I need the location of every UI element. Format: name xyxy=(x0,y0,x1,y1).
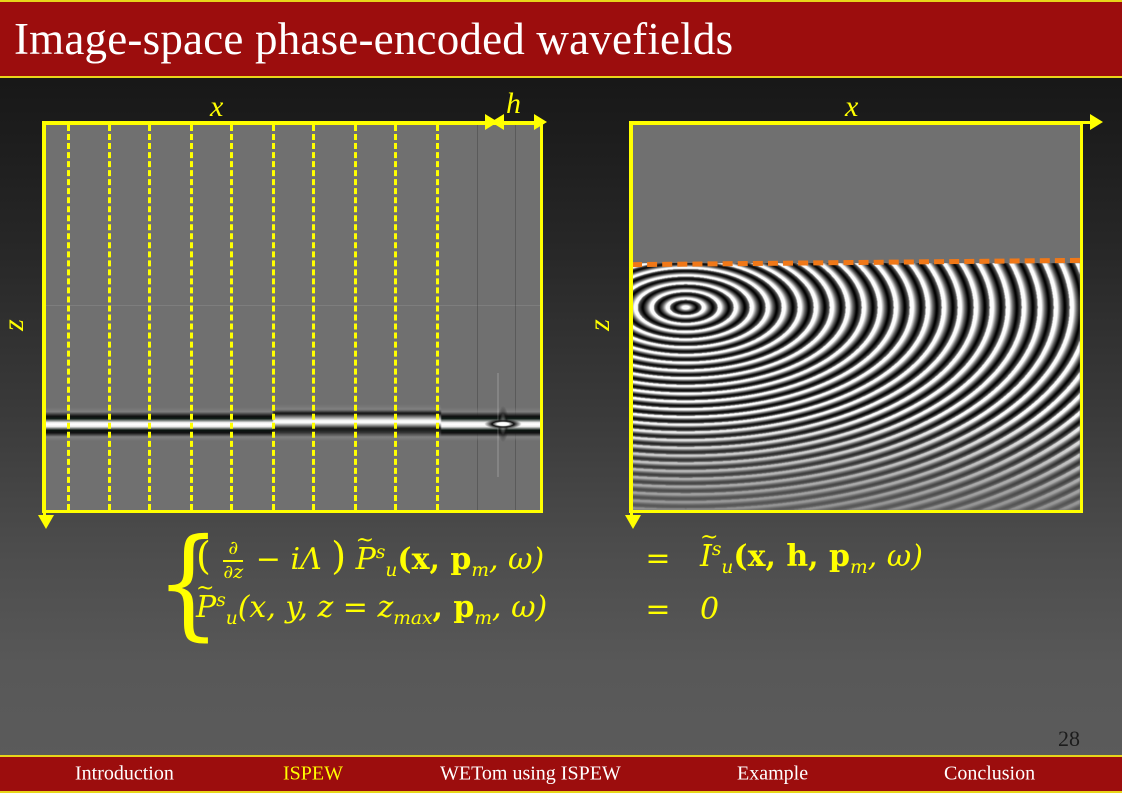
phase-encode-line xyxy=(148,125,151,510)
field-arguments-2: (x, y, z = z xyxy=(238,590,394,625)
equation-line-1-equals: = xyxy=(616,541,700,576)
h-axis-arrowhead-right xyxy=(534,114,547,130)
field-symbol-group-2: ~P xyxy=(196,590,216,625)
left-faint-divider-1 xyxy=(477,125,478,510)
tilde-accent: ~ xyxy=(356,528,374,553)
figure-right-image-perturbation xyxy=(629,122,1083,513)
left-x-axis-line xyxy=(42,121,492,124)
field-subscript: u xyxy=(385,560,397,581)
left-z-axis-arrowhead xyxy=(38,515,54,529)
equation-line-2: ~Psu(x, y, z = zmax, pm, ω) = 0 xyxy=(196,590,719,629)
tilde-accent-2: ~ xyxy=(196,576,214,601)
partial-derivative-fraction: ∂ ∂z xyxy=(223,539,243,583)
left-faint-divider-2 xyxy=(515,125,516,510)
phase-encode-line xyxy=(394,125,397,510)
phase-encode-line xyxy=(354,125,357,510)
figure-left-image-space-wavefield xyxy=(42,122,543,513)
field-arg-tail-2b: , ω) xyxy=(492,590,547,625)
page-title: Image-space phase-encoded wavefields xyxy=(14,8,733,70)
h-axis-arrowhead-left xyxy=(491,114,504,130)
equation-line-1-lhs: ( ∂ ∂z − iΛ ) ~Psu(x, pm, ω) xyxy=(196,534,616,583)
phase-encode-line xyxy=(436,125,439,510)
rhs-subscript: u xyxy=(721,557,733,578)
right-x-axis-line xyxy=(629,121,1093,124)
rhs-arg-subscript: m xyxy=(850,557,868,578)
frac-numerator: ∂ xyxy=(228,539,238,559)
field-superscript-2: s xyxy=(216,590,226,611)
phase-encode-line xyxy=(67,125,70,510)
right-z-axis-label: z xyxy=(585,319,615,331)
page-number: 28 xyxy=(1058,726,1080,752)
nav-item-introduction[interactable]: Introduction xyxy=(75,763,174,786)
field-symbol-group: ~P xyxy=(356,542,376,577)
equation-line-2-rhs: 0 xyxy=(700,592,719,627)
lambda-symbol: Λ xyxy=(300,542,322,577)
field-arg-tail-2: , p xyxy=(432,590,474,625)
field-arguments: (x, p xyxy=(397,542,471,577)
right-x-axis-label: x xyxy=(845,92,858,122)
right-z-axis-line xyxy=(630,122,633,518)
focusing-point xyxy=(475,396,531,452)
h-axis-label: h xyxy=(506,89,521,119)
left-x-axis-label: x xyxy=(210,92,223,122)
phase-encode-line xyxy=(272,125,275,510)
field-arg-subscript: m xyxy=(471,560,489,581)
minus-sign: − xyxy=(256,542,281,577)
phase-encode-line xyxy=(230,125,233,510)
left-faint-horizon xyxy=(45,305,540,306)
scattered-wavefield xyxy=(632,263,1080,510)
rhs-arguments: (x, h, p xyxy=(733,539,850,574)
rhs-symbol-group: ~I xyxy=(700,539,712,574)
paren-close: ) xyxy=(331,534,346,578)
equation-line-2-lhs: ~Psu(x, y, z = zmax, pm, ω) xyxy=(196,590,616,629)
frac-denominator: ∂z xyxy=(223,563,243,583)
equation-line-1-rhs: ~Isu(x, h, pm, ω) xyxy=(700,539,923,578)
phase-encode-line xyxy=(108,125,111,510)
nav-item-ispew[interactable]: ISPEW xyxy=(283,763,343,786)
footer-navigation: Introduction ISPEW WETom using ISPEW Exa… xyxy=(0,755,1122,793)
equation-line-1: ( ∂ ∂z − iΛ ) ~Psu(x, pm, ω) = ~Isu(x, h… xyxy=(196,534,923,583)
field-superscript: s xyxy=(376,542,386,563)
zmax-subscript: max xyxy=(393,608,432,629)
paren-open: ( xyxy=(196,534,211,578)
phase-encode-line xyxy=(312,125,315,510)
field-arg-tail: , ω) xyxy=(489,542,544,577)
equation-line-2-equals: = xyxy=(616,592,700,627)
equation-block: { ( ∂ ∂z − iΛ ) ~Psu(x, pm, ω) = ~Isu(x,… xyxy=(150,528,980,648)
nav-item-conclusion[interactable]: Conclusion xyxy=(944,763,1035,786)
slide: Image-space phase-encoded wavefields x h… xyxy=(0,0,1122,793)
rhs-tilde-accent: ~ xyxy=(700,525,710,550)
rhs-arg-tail: , ω) xyxy=(868,539,923,574)
left-panel-background xyxy=(45,125,540,510)
nav-item-wetom-using-ispew[interactable]: WETom using ISPEW xyxy=(440,763,621,786)
left-z-axis-label: z xyxy=(0,319,29,331)
title-banner: Image-space phase-encoded wavefields xyxy=(0,0,1122,78)
imaginary-unit: i xyxy=(290,542,300,577)
phase-encode-line xyxy=(190,125,193,510)
field-subscript-2: u xyxy=(226,608,238,629)
pm-subscript-2: m xyxy=(474,608,492,629)
right-z-axis-arrowhead xyxy=(625,515,641,529)
right-x-axis-arrowhead xyxy=(1090,114,1103,130)
left-z-axis-line xyxy=(43,122,46,518)
nav-item-example[interactable]: Example xyxy=(737,763,808,786)
